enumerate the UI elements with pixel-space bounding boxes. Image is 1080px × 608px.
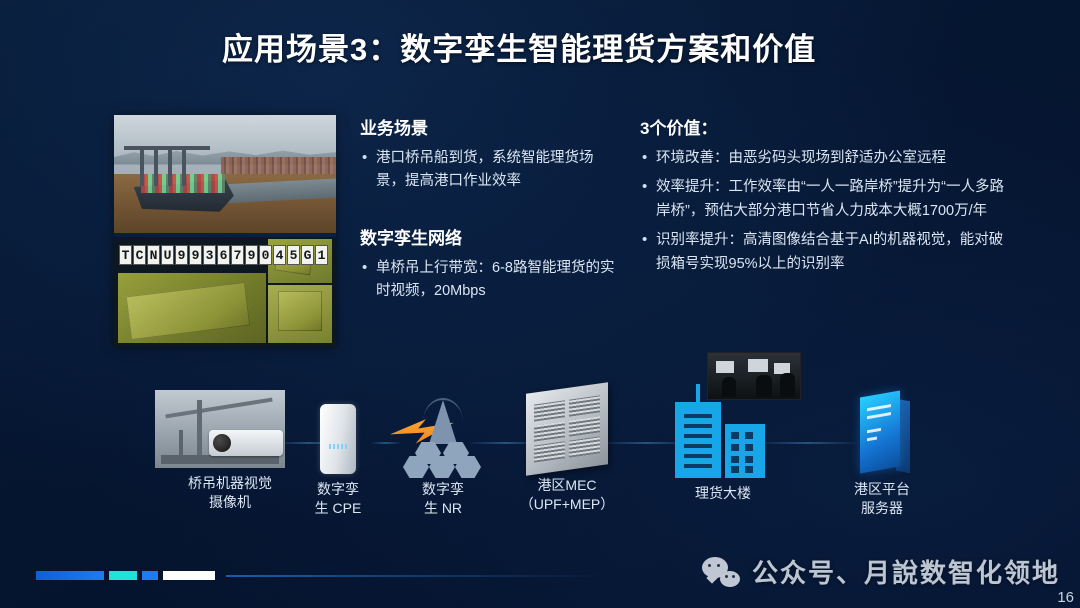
page-title: 应用场景3：数字孪生智能理货方案和价值 bbox=[222, 30, 922, 71]
ocr-char: 3 bbox=[203, 245, 216, 265]
flow-node-label: 数字孪 生 NR bbox=[398, 480, 488, 518]
bullet-list: 港口桥吊船到货，系统智能理货场景，提高港口作业效率 bbox=[360, 147, 620, 194]
ocr-char: C bbox=[133, 245, 146, 265]
wechat-icon bbox=[702, 557, 740, 587]
block-three-values: 3个价值： 环境改善：由恶劣码头现场到舒适办公室远程 效率提升：工作效率由“一人… bbox=[640, 118, 1010, 276]
ocr-char: 9 bbox=[245, 245, 258, 265]
bar-segment bbox=[109, 571, 137, 580]
ocr-char: T bbox=[119, 245, 132, 265]
bar-tail-line bbox=[226, 575, 606, 577]
ocr-char: 5 bbox=[287, 245, 300, 265]
column-business: 业务场景 港口桥吊船到货，系统智能理货场景，提高港口作业效率 数字孪生网络 单桥… bbox=[360, 118, 620, 330]
list-item: 港口桥吊船到货，系统智能理货场景，提高港口作业效率 bbox=[360, 147, 620, 194]
photo-cranes bbox=[134, 146, 223, 186]
flow-node-building[interactable]: 理货大楼 bbox=[658, 392, 788, 503]
section-heading: 数字孪生网络 bbox=[360, 228, 620, 251]
bullet-list: 环境改善：由恶劣码头现场到舒适办公室远程 效率提升：工作效率由“一人一路岸桥”提… bbox=[640, 147, 1010, 276]
flow-node-cpe[interactable]: 数字孪 生 CPE bbox=[288, 400, 388, 518]
flow-node-mec[interactable]: 港区MEC （UPF+MEP） bbox=[508, 388, 626, 514]
footer-decoration-bar bbox=[36, 571, 606, 580]
flow-node-label: 桥吊机器视觉 摄像机 bbox=[155, 474, 305, 512]
crane-camera-icon bbox=[155, 390, 285, 468]
flow-node-nr[interactable]: 数字孪 生 NR bbox=[398, 400, 488, 518]
column-value: 3个价值： 环境改善：由恶劣码头现场到舒适办公室远程 效率提升：工作效率由“一人… bbox=[640, 118, 1010, 302]
ocr-char: N bbox=[147, 245, 160, 265]
flow-node-label: 港区平台 服务器 bbox=[820, 480, 944, 518]
section-heading: 业务场景 bbox=[360, 118, 620, 141]
5g-tower-icon bbox=[403, 400, 483, 474]
bar-segment bbox=[163, 571, 215, 580]
architecture-flow-diagram: 桥吊机器视觉 摄像机 数字孪 生 CPE 数字孪 生 NR bbox=[0, 372, 1080, 532]
ocr-char: 7 bbox=[231, 245, 244, 265]
page-number: 16 bbox=[1057, 589, 1074, 606]
flow-node-label: 理货大楼 bbox=[658, 484, 788, 503]
section-heading: 3个价值： bbox=[640, 118, 1010, 141]
bullet-list: 单桥吊上行带宽：6-8路智能理货的实时视频，20Mbps bbox=[360, 257, 620, 304]
list-item: 环境改善：由恶劣码头现场到舒适办公室远程 bbox=[640, 147, 1010, 170]
ocr-char: U bbox=[161, 245, 174, 265]
media-panel: TCNU993679045G1 bbox=[114, 115, 336, 347]
list-item: 效率提升：工作效率由“一人一路岸桥”提升为“一人多路岸桥”，预估大部分港口节省人… bbox=[640, 176, 1010, 223]
block-business-scenario: 业务场景 港口桥吊船到货，系统智能理货场景，提高港口作业效率 bbox=[360, 118, 620, 194]
ocr-char: 1 bbox=[315, 245, 328, 265]
office-building-icon bbox=[669, 392, 777, 478]
bar-segment bbox=[36, 571, 104, 580]
ocr-char: 9 bbox=[189, 245, 202, 265]
slide-canvas: 应用场景3：数字孪生智能理货方案和价值 TCNU9936790 bbox=[0, 0, 1080, 608]
ocr-char: G bbox=[301, 245, 314, 265]
flow-node-platform[interactable]: 港区平台 服务器 bbox=[820, 390, 944, 518]
container-box bbox=[278, 291, 322, 331]
office-room-photo bbox=[707, 352, 801, 400]
ocr-container-number: TCNU993679045G1 bbox=[114, 245, 328, 267]
tally-camera-photo: TCNU993679045G1 bbox=[114, 237, 336, 347]
flow-node-label: 港区MEC （UPF+MEP） bbox=[508, 476, 626, 514]
port-aerial-photo bbox=[114, 115, 336, 233]
watermark-text: 公众号、月說数智化领地 bbox=[752, 553, 1060, 590]
list-item: 单桥吊上行带宽：6-8路智能理货的实时视频，20Mbps bbox=[360, 257, 620, 304]
ocr-char: 4 bbox=[273, 245, 286, 265]
flow-node-camera[interactable]: 桥吊机器视觉 摄像机 bbox=[155, 390, 305, 512]
cpe-device-icon bbox=[320, 404, 356, 474]
ocr-char: 6 bbox=[217, 245, 230, 265]
list-item: 识别率提升：高清图像结合基于AI的机器视觉，能对破损箱号实现95%以上的识别率 bbox=[640, 229, 1010, 276]
wechat-watermark: 公众号、月說数智化领地 bbox=[702, 553, 1060, 590]
block-digital-twin-network: 数字孪生网络 单桥吊上行带宽：6-8路智能理货的实时视频，20Mbps bbox=[360, 228, 620, 304]
ocr-char: 0 bbox=[259, 245, 272, 265]
mec-server-icon bbox=[526, 388, 608, 470]
flow-node-label: 数字孪 生 CPE bbox=[288, 480, 388, 518]
server-cabinet-icon bbox=[850, 390, 914, 474]
bar-segment bbox=[142, 571, 158, 580]
ocr-char: 9 bbox=[175, 245, 188, 265]
